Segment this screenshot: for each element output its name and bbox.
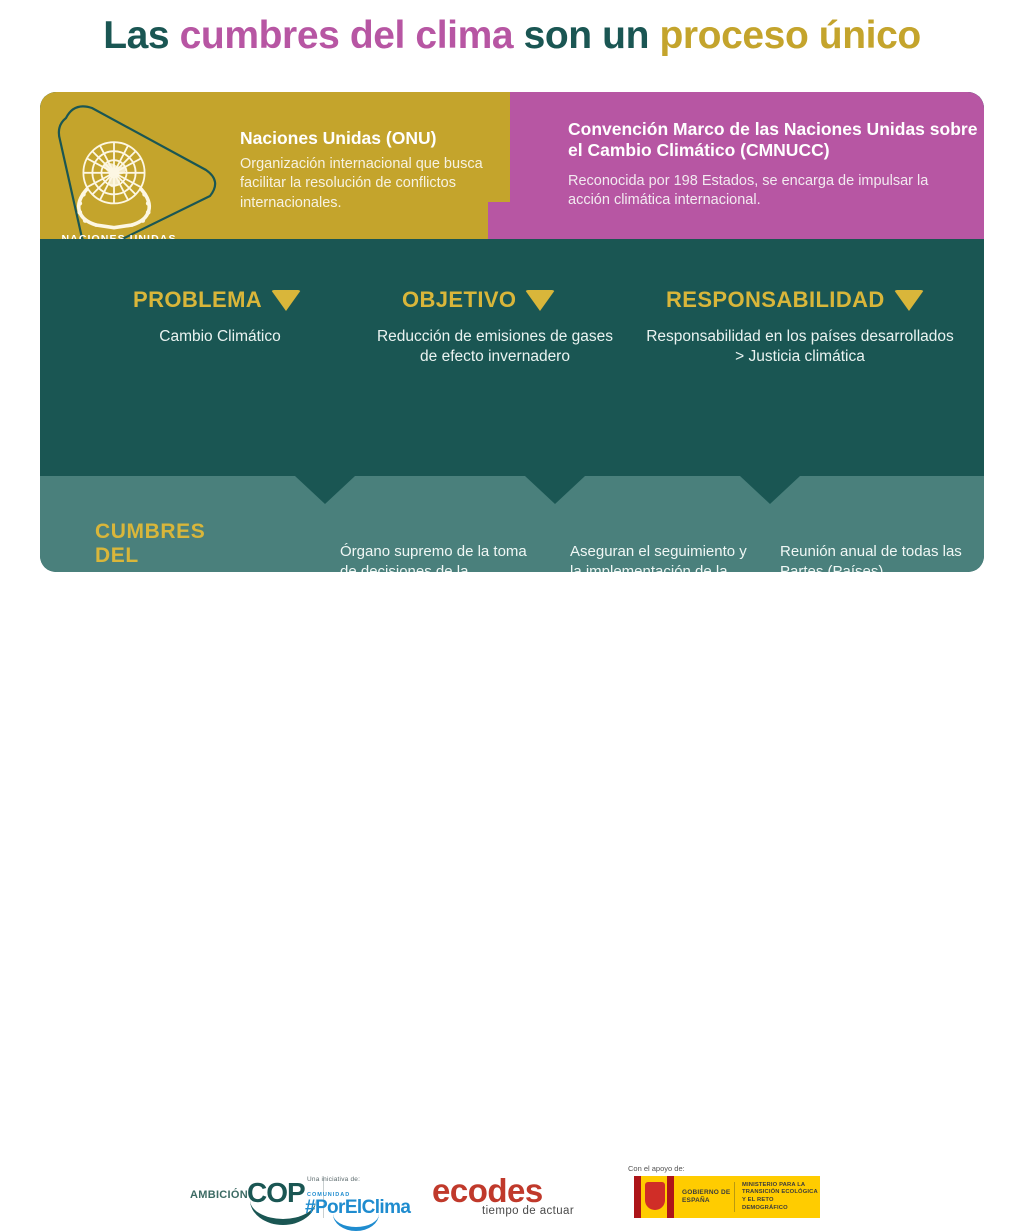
gobierno-de-espana-text: GOBIERNO DE ESPAÑA [674,1189,734,1205]
triangle-down-icon [525,290,555,311]
notch-icon-1 [295,476,355,504]
middle-column-objetivo-title: OBJETIVO [402,287,620,313]
problema-label: PROBLEMA [133,287,262,313]
middle-column-problema: PROBLEMA Cambio Climático [95,287,345,347]
middle-column-objetivo: OBJETIVO Reducción de emisiones de gases… [370,287,620,368]
con-el-apoyo-label: Con el apoyo de: [628,1164,685,1173]
middle-column-responsabilidad-title: RESPONSABILIDAD [666,287,960,313]
spain-flag-icon [634,1176,674,1218]
middle-column-responsabilidad: RESPONSABILIDAD Responsabilidad en los p… [640,287,960,368]
un-emblem-icon [60,126,168,234]
cmnucc-panel-heading: Convención Marco de las Naciones Unidas … [568,119,978,162]
ministerio-text: MINISTERIO PARA LA TRANSICIÓN ECOLÓGICA … [735,1182,820,1212]
ambicion-word: AMBICIÓN [190,1189,248,1201]
page-title: Las cumbres del clima son un proceso úni… [0,14,1024,58]
middle-section: PROBLEMA Cambio Climático OBJETIVO Reduc… [40,239,984,516]
infographic-board: NACIONES UNIDAS Naciones Unidas (ONU) Or… [40,92,984,572]
ambicion-cop-logo[interactable]: AMBICIÓN COP [190,1176,318,1220]
cmnucc-panel [510,92,984,239]
onu-panel-body: Organización internacional que busca fac… [240,155,490,213]
cop-line-1: CUMBRES [95,520,275,544]
cumbres-del-clima-label: CUMBRES DEL CLIMA - COP - [95,520,275,572]
middle-column-responsabilidad-body: Responsabilidad en los países desarrolla… [640,327,960,368]
middle-column-objetivo-body: Reducción de emisiones de gases de efect… [370,327,620,368]
porelclima-intro: Una iniciativa de: [307,1176,360,1183]
gobierno-box: GOBIERNO DE ESPAÑA MINISTERIO PARA LA TR… [634,1176,820,1218]
spain-coat-of-arms-icon [645,1182,665,1210]
notch-icon-3 [740,476,800,504]
objetivo-label: OBJETIVO [402,287,516,313]
title-part-1: Las [103,14,179,57]
porelclima-logo[interactable]: Una iniciativa de: COMUNIDAD #PorElClima [305,1176,415,1222]
gobierno-espana-logo[interactable]: Con el apoyo de: GOBIERNO DE ESPAÑA MINI… [628,1164,824,1220]
triangle-down-icon [894,290,924,311]
cop-line-3: CLIMA [95,569,275,572]
footer-logos: AMBICIÓN COP Una iniciativa de: COMUNIDA… [0,580,1024,660]
ecodes-tagline: tiempo de actuar [482,1205,574,1217]
middle-column-problema-title: PROBLEMA [133,287,345,313]
bottom-item-2: Aseguran el seguimiento y la implementac… [570,542,760,572]
triangle-down-icon [271,290,301,311]
ecodes-logo[interactable]: ecodes tiempo de actuar [432,1172,582,1220]
bottom-item-3: Reunión anual de todas las Partes (Paíse… [780,542,970,572]
onu-panel-heading: Naciones Unidas (ONU) [240,128,490,149]
porelclima-smile-icon [333,1214,379,1231]
bottom-item-1: Órgano supremo de la toma de decisiones … [340,542,540,572]
un-badge: NACIONES UNIDAS [40,96,228,256]
notch-icon-2 [525,476,585,504]
cop-line-2: DEL [95,544,275,568]
title-part-2: cumbres del clima [180,14,524,57]
middle-column-problema-body: Cambio Climático [95,327,345,347]
title-part-4: proceso único [659,14,920,57]
cmnucc-panel-body: Reconocida por 198 Estados, se encarga d… [568,172,968,211]
title-part-3: son un [524,14,660,57]
responsabilidad-label: RESPONSABILIDAD [666,287,885,313]
